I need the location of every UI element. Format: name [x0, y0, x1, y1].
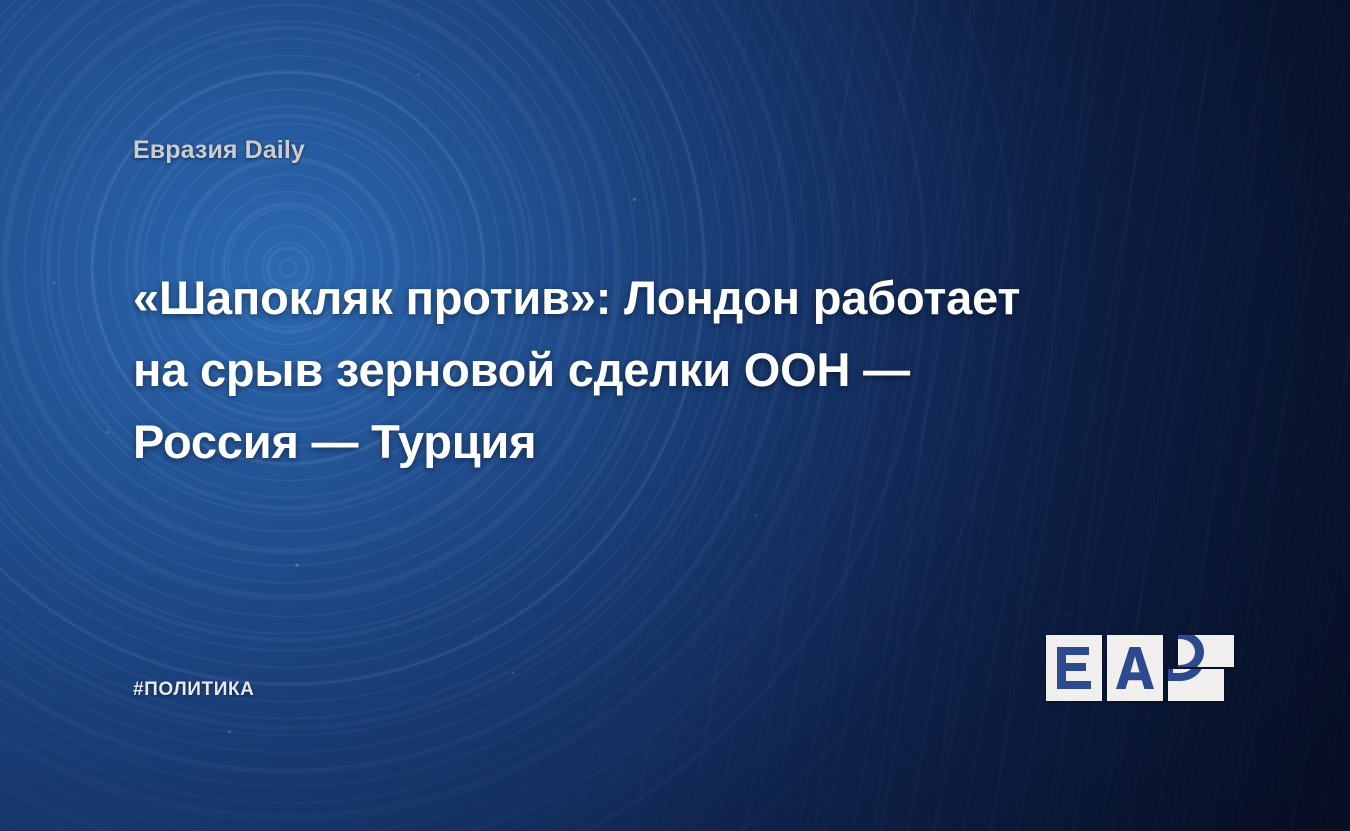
headline-line-2: на срыв зерновой сделки ООН — [133, 334, 1163, 406]
brand-name: Евразия Daily [133, 136, 305, 165]
card-content: Евразия Daily «Шапокляк против»: Лондон … [0, 0, 1350, 831]
logo-tile-e [1046, 635, 1102, 701]
logo-tile-d [1168, 635, 1224, 701]
letter-e-icon [1057, 647, 1091, 689]
eadaily-logo[interactable] [1046, 635, 1224, 701]
page-title: «Шапокляк против»: Лондон работает на ср… [133, 262, 1163, 478]
category-tag[interactable]: #ПОЛИТИКА [133, 679, 255, 701]
headline-line-1: «Шапокляк против»: Лондон работает [133, 262, 1163, 334]
logo-tile-a [1107, 635, 1163, 701]
article-share-card: Евразия Daily «Шапокляк против»: Лондон … [0, 0, 1350, 831]
headline-line-3: Россия — Турция [133, 406, 1163, 478]
letter-d-bottom-half [1168, 669, 1224, 701]
letter-a-icon [1116, 647, 1154, 689]
letter-d-top-half [1178, 635, 1234, 667]
